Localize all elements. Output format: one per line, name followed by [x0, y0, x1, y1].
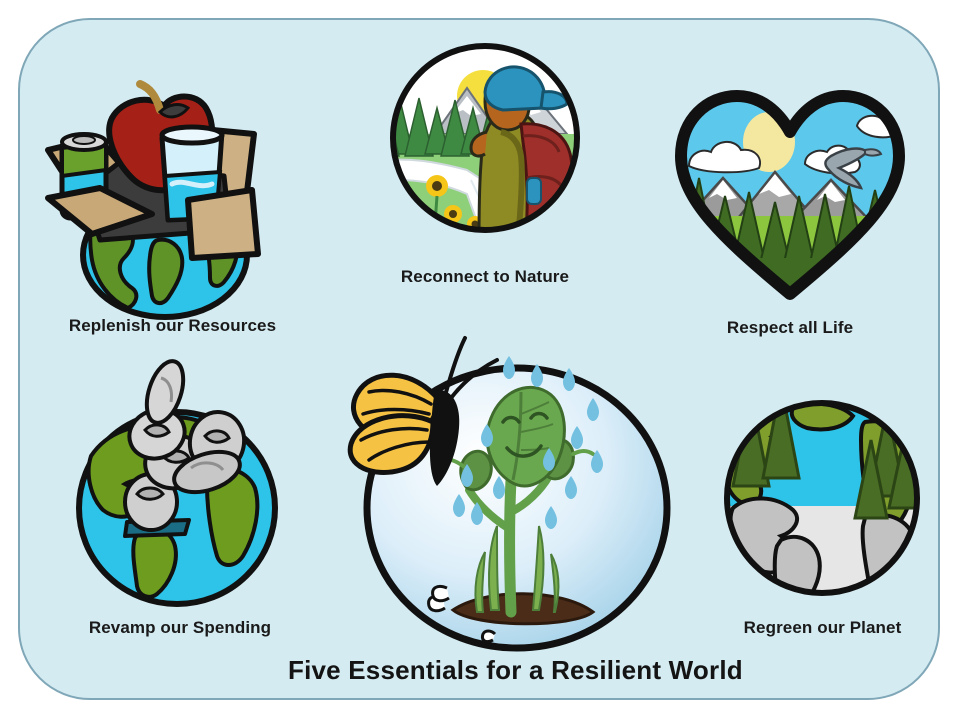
half-green-half-grey-globe-with-pine-trees-icon — [715, 368, 930, 613]
essential-replenish-our-resources[interactable] — [40, 90, 305, 320]
poster-title: Five Essentials for a Resilient World — [288, 655, 743, 686]
heart-shaped-nature-scene-with-bird-icon — [665, 68, 915, 308]
smiling-plant-in-rain-with-butterfly-oval-icon — [335, 330, 685, 660]
cardboard-box-with-apple-can-and-water-glass-on-globe-icon — [40, 90, 305, 320]
essential-respect-all-life[interactable] — [665, 68, 915, 308]
essential-revamp-our-spending[interactable] — [65, 360, 295, 610]
caption-regreen-our-planet: Regreen our Planet — [715, 618, 930, 638]
globe-piggy-bank-with-coins-icon — [65, 360, 295, 610]
essential-regreen-our-planet[interactable] — [715, 368, 930, 613]
caption-respect-all-life: Respect all Life — [665, 318, 915, 338]
caption-revamp-our-spending: Revamp our Spending — [65, 618, 295, 638]
poster-frame: Replenish our Resources — [18, 18, 940, 700]
caption-reconnect-to-nature: Reconnect to Nature — [375, 267, 595, 287]
caption-replenish-our-resources: Replenish our Resources — [40, 316, 305, 336]
essential-reconnect-to-nature[interactable] — [375, 38, 595, 238]
essential-center-growth[interactable] — [335, 330, 685, 660]
hiker-with-backpack-in-mountain-landscape-circle-icon — [375, 38, 595, 238]
